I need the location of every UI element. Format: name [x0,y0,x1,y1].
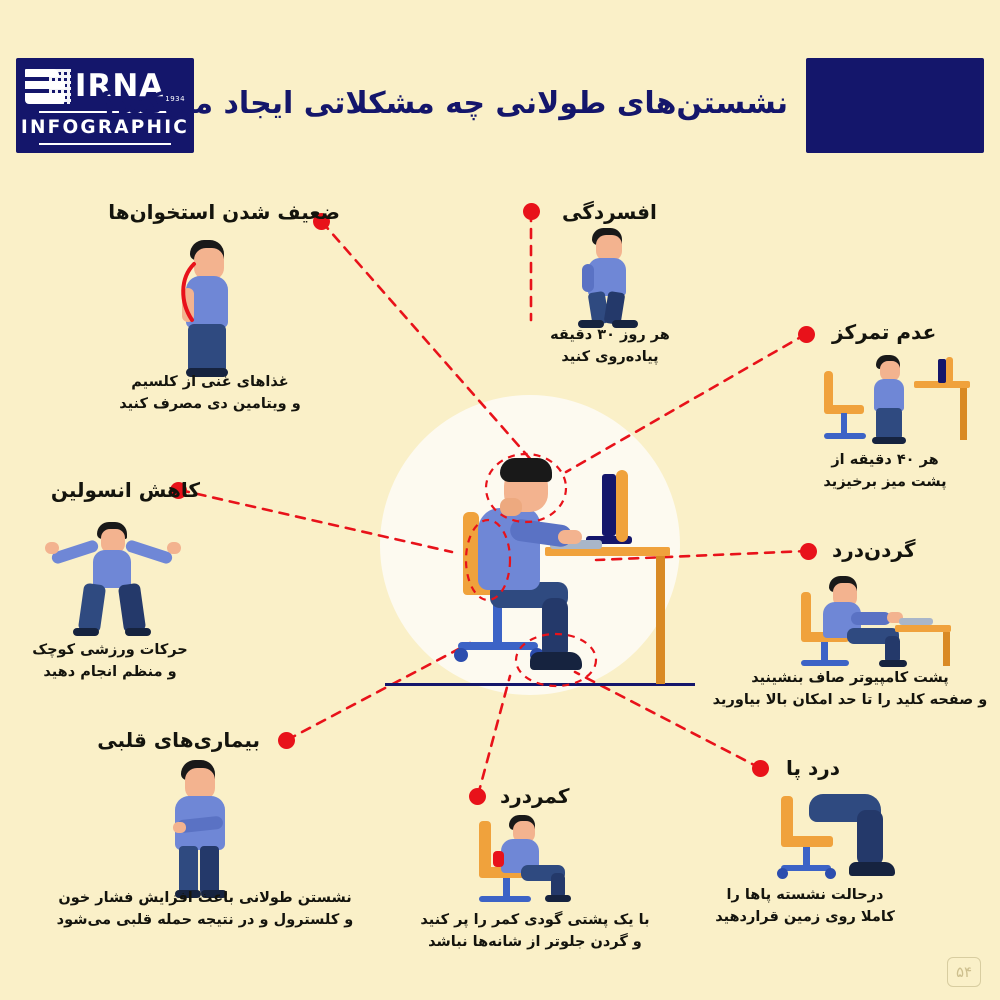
node-caption-backpain: با یک پشتی گودی کمر را پر کنید و گردن جل… [390,910,680,954]
node-dot-neck[interactable] [800,543,817,560]
walking-man-icon [570,228,660,328]
man-arms-crossed-icon [155,760,255,890]
node-label-insulin: کاهش انسولین [51,478,200,502]
node-label-backpain: کمردرد [500,784,570,808]
node-dot-legs[interactable] [752,760,769,777]
logo-divider-2 [39,143,171,145]
node-caption-bones: غذاهای غنی از کلسیم و ویتامین دی مصرف کن… [90,372,330,416]
standing-man-back-pain-icon [160,240,260,370]
node-label-heart: بیماری‌های قلبی [97,728,260,752]
page-number-badge: ۵۴ [947,957,981,987]
node-caption-focus: هر ۴۰ دقیقه از پشت میز برخیزید [790,450,980,494]
page-title: نشستن‌های طولانی چه مشکلاتی ایجاد می‌کند… [208,74,788,138]
node-label-focus: عدم تمرکز [832,320,936,344]
man-standing-at-desk-icon [810,355,970,450]
lumbar-support-chair-icon [465,815,595,915]
node-label-legs: درد پا [786,756,840,780]
man-sitting-upright-icon [795,570,975,670]
node-caption-legs: درحالت نشسته پاها را کاملا روی زمین قرار… [680,885,930,929]
node-caption-neck: پشت کامپیوتر صاف بنشینید و صفحه کلید را … [700,668,1000,712]
node-label-bones: ضعیف شدن استخوان‌ها [108,200,340,224]
man-sitting-at-computer-desk-icon [380,430,700,700]
header-right-block [806,58,984,153]
irna-flag-icon [25,67,71,107]
node-dot-backpain[interactable] [469,788,486,805]
infographic-canvas: IRNA 1934 INFOGRAPHIC نشستن‌های طولانی چ… [0,0,1000,1000]
node-caption-depression: هر روز ۳۰ دقیقه پیاده‌روی کنید [520,325,700,369]
node-caption-heart: نشستن طولانی باعث افزایش فشار خون و کلست… [30,888,380,932]
node-dot-heart[interactable] [278,732,295,749]
node-label-neck: گردن‌درد [832,538,915,562]
legs-on-floor-icon [765,788,940,888]
node-caption-insulin: حرکات ورزشی کوچک و منظم انجام دهید [10,640,210,684]
man-stretching-icon [45,520,190,640]
node-label-depression: افسردگی [562,200,657,224]
node-dot-depression[interactable] [523,203,540,220]
node-dot-focus[interactable] [798,326,815,343]
